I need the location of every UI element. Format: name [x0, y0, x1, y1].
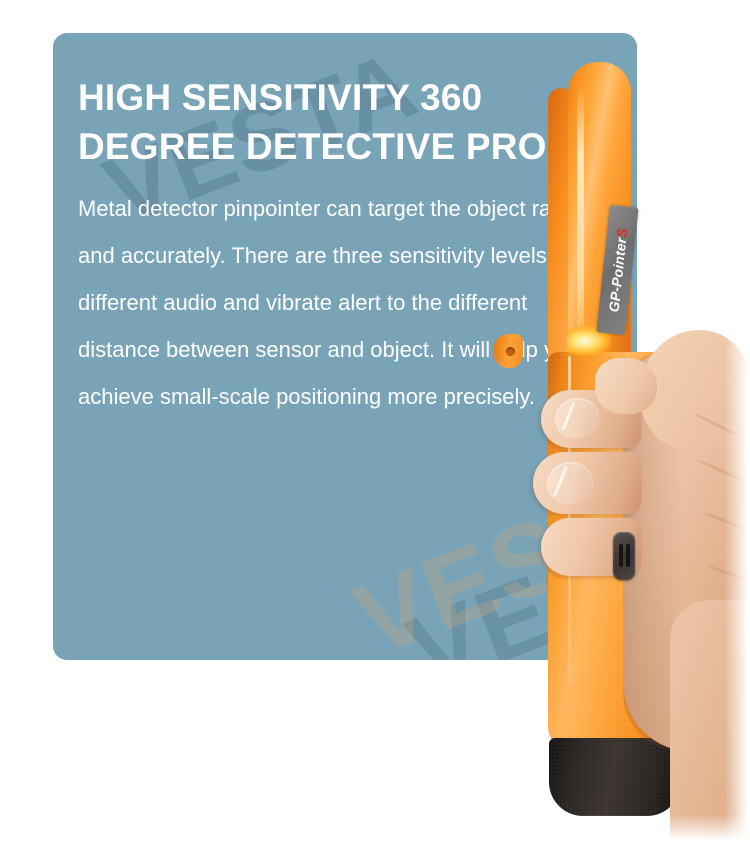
product-label-text: GP-PointerS — [605, 227, 630, 313]
wrist — [670, 600, 750, 854]
product-photo: GP-PointerS — [455, 0, 750, 854]
probe-gloss-highlight — [577, 86, 584, 354]
lanyard-eyelet — [493, 334, 523, 368]
lanyard-hole — [506, 347, 515, 356]
power-button-slot — [626, 544, 630, 567]
product-banner: VESTA VESTA HIGH SENSITIVITY 360 DEGREE … — [0, 0, 750, 854]
power-button-slot — [619, 544, 623, 567]
thumb — [595, 358, 657, 414]
end-cap-texture — [549, 738, 681, 816]
power-button[interactable] — [613, 532, 635, 580]
